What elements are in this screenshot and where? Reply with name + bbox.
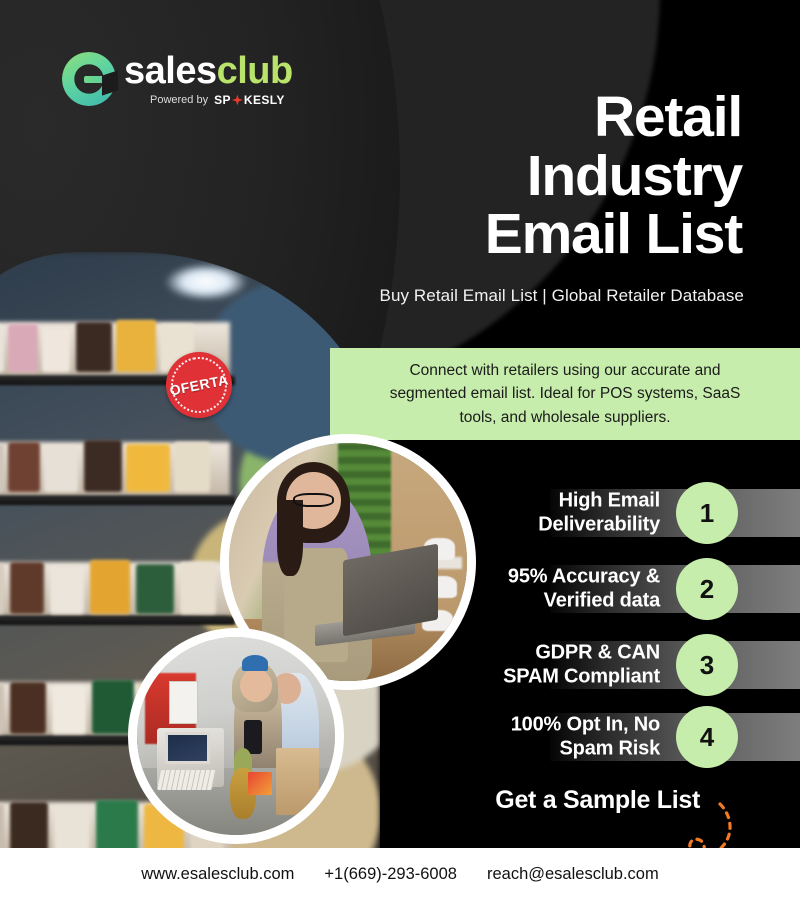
headline-line-3: Email List bbox=[485, 205, 742, 264]
headline-line-2: Industry bbox=[485, 147, 742, 206]
footer-phone[interactable]: +1(669)-293-6008 bbox=[324, 865, 457, 884]
footer-email[interactable]: reach@esalesclub.com bbox=[487, 865, 659, 884]
feature-row-3[interactable]: GDPR & CAN SPAM Compliant 3 bbox=[0, 634, 800, 696]
feature-row-2[interactable]: 95% Accuracy & Verified data 2 bbox=[0, 558, 800, 620]
feature-number-badge: 3 bbox=[676, 634, 738, 696]
feature-number-badge: 4 bbox=[676, 706, 738, 768]
brand-name-part2: club bbox=[217, 50, 293, 92]
oferta-badge-label: OFERTA bbox=[168, 371, 229, 398]
footer-contact-bar: www.esalesclub.com +1(669)-293-6008 reac… bbox=[0, 848, 800, 900]
partner-name-part2: KESLY bbox=[244, 94, 285, 106]
partner-wordmark: SP KESLY bbox=[214, 94, 285, 106]
feature-number-badge: 1 bbox=[676, 482, 738, 544]
partner-name-part1: SP bbox=[214, 94, 231, 106]
spokesly-dot-icon bbox=[232, 95, 243, 106]
feature-label: 100% Opt In, No Spam Risk bbox=[511, 713, 660, 760]
brand-wordmark: salesclub bbox=[124, 52, 293, 90]
subheadline: Buy Retail Email List | Global Retailer … bbox=[380, 286, 745, 306]
brand-name-part1: sales bbox=[124, 50, 217, 92]
powered-by-label: Powered by bbox=[150, 95, 208, 106]
feature-row-1[interactable]: High Email Deliverability 1 bbox=[0, 482, 800, 544]
intro-text: Connect with retailers using our accurat… bbox=[380, 359, 750, 429]
feature-label: 95% Accuracy & Verified data bbox=[508, 565, 660, 612]
page-title: Retail Industry Email List bbox=[485, 88, 742, 264]
e-circle-logo-icon bbox=[62, 52, 116, 106]
intro-panel: Connect with retailers using our accurat… bbox=[330, 348, 800, 440]
feature-row-4[interactable]: 100% Opt In, No Spam Risk 4 bbox=[0, 706, 800, 768]
feature-label: GDPR & CAN SPAM Compliant bbox=[503, 641, 660, 688]
brand-logo[interactable]: salesclub Powered by SP KESLY bbox=[62, 52, 293, 106]
headline-line-1: Retail bbox=[485, 88, 742, 147]
feature-number-badge: 2 bbox=[676, 558, 738, 620]
retail-email-list-poster: OFERTA bbox=[0, 0, 800, 900]
feature-label: High Email Deliverability bbox=[538, 489, 660, 536]
footer-website[interactable]: www.esalesclub.com bbox=[141, 865, 294, 884]
